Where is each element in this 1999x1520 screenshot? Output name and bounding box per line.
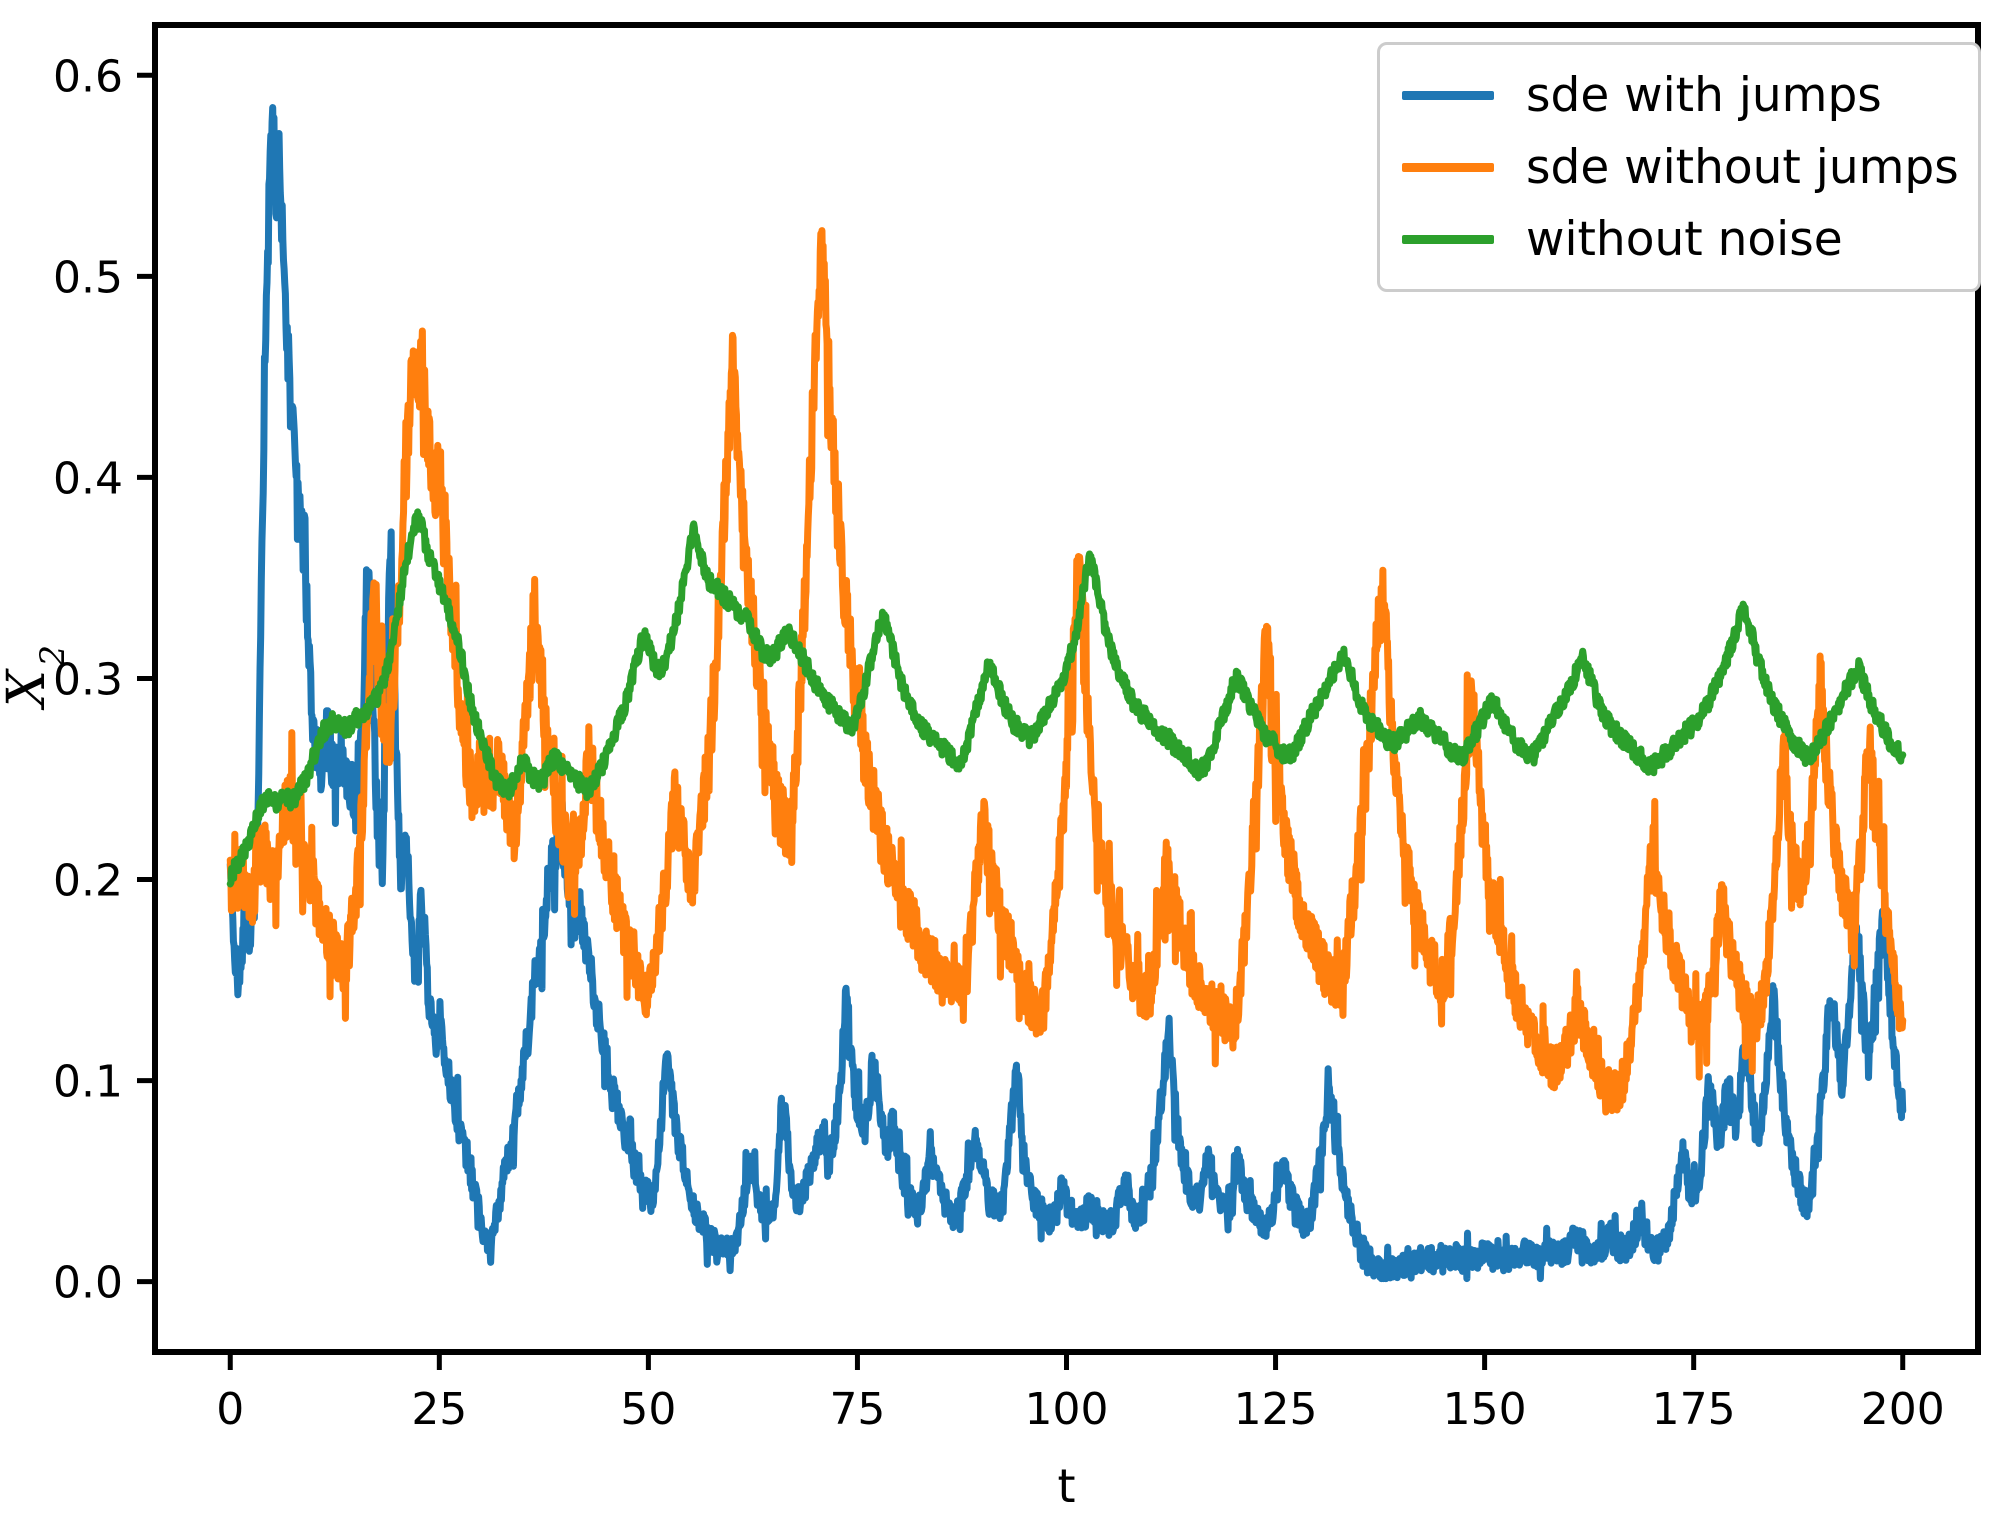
legend-item[interactable]: sde with jumps — [1402, 59, 1950, 131]
legend-label-sde-without-jumps: sde without jumps — [1526, 140, 1959, 195]
x-tick-label: 150 — [1443, 1384, 1527, 1435]
y-axis-title-symbol: X — [0, 668, 57, 711]
y-tick-label: 0.1 — [53, 1057, 123, 1108]
x-tick-label: 75 — [829, 1384, 885, 1435]
legend-label-without-noise: without noise — [1526, 212, 1843, 267]
legend-swatch-sde-with-jumps — [1402, 91, 1494, 100]
y-tick-label: 0.2 — [53, 856, 123, 907]
x-tick-label: 0 — [216, 1384, 244, 1435]
y-tick-label: 0.5 — [53, 252, 123, 303]
legend-swatch-without-noise — [1402, 235, 1494, 244]
chart-legend: sde with jumps sde without jumps without… — [1377, 42, 1981, 292]
y-axis-title-subscript: 2 — [33, 645, 73, 668]
x-tick-label: 25 — [411, 1384, 467, 1435]
figure-canvas: 02550751001251501752000.00.10.20.30.40.5… — [0, 0, 1999, 1520]
x-tick-label: 100 — [1025, 1384, 1109, 1435]
y-tick-label: 0.4 — [53, 453, 123, 504]
legend-item[interactable]: sde without jumps — [1402, 131, 1950, 203]
x-tick-label: 50 — [620, 1384, 676, 1435]
legend-swatch-sde-without-jumps — [1402, 163, 1494, 172]
x-tick-label: 200 — [1861, 1384, 1945, 1435]
y-tick-label: 0.6 — [53, 51, 123, 102]
legend-label-sde-with-jumps: sde with jumps — [1526, 68, 1882, 123]
x-axis-title: t — [1057, 1459, 1075, 1513]
x-tick-label: 175 — [1652, 1384, 1736, 1435]
x-tick-label: 125 — [1234, 1384, 1318, 1435]
legend-item[interactable]: without noise — [1402, 203, 1950, 275]
y-tick-label: 0.0 — [53, 1258, 123, 1309]
